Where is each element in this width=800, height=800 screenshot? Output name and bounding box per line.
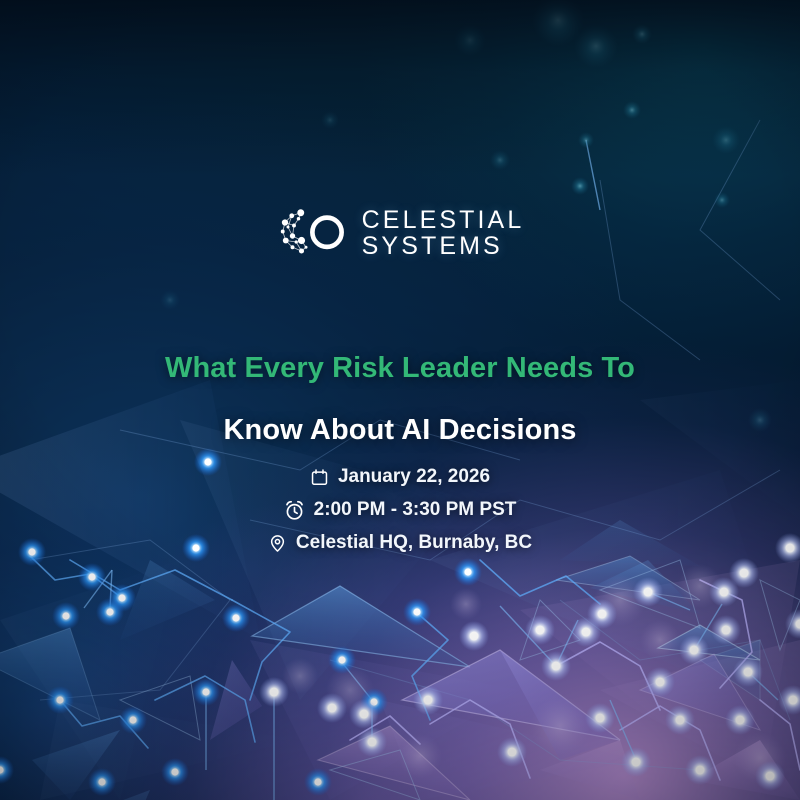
brand-wordmark-line2: SYSTEMS — [362, 233, 525, 259]
event-location-row: Celestial HQ, Burnaby, BC — [268, 532, 532, 554]
headline-line-2: Know About AI Decisions — [0, 414, 800, 447]
calendar-icon — [310, 468, 329, 487]
event-poster: CELESTIAL SYSTEMS What Every Risk Leader… — [0, 0, 800, 800]
map-pin-icon — [268, 534, 287, 553]
brand-wordmark-line1: CELESTIAL — [362, 207, 525, 233]
event-headline: What Every Risk Leader Needs To Know Abo… — [0, 352, 800, 447]
headline-line-1: What Every Risk Leader Needs To — [0, 352, 800, 385]
celestial-systems-node-ring-mark — [276, 206, 348, 260]
alarm-clock-icon — [284, 500, 305, 521]
event-date-row: January 22, 2026 — [310, 466, 490, 488]
brand-logo: CELESTIAL SYSTEMS — [0, 206, 800, 260]
event-time-text: 2:00 PM - 3:30 PM PST — [314, 499, 517, 521]
brand-wordmark: CELESTIAL SYSTEMS — [362, 207, 525, 259]
event-time-row: 2:00 PM - 3:30 PM PST — [284, 499, 517, 521]
event-location-text: Celestial HQ, Burnaby, BC — [296, 532, 532, 554]
event-date-text: January 22, 2026 — [338, 466, 490, 488]
event-details: January 22, 2026 2:00 PM - 3:30 PM PST C… — [0, 466, 800, 554]
